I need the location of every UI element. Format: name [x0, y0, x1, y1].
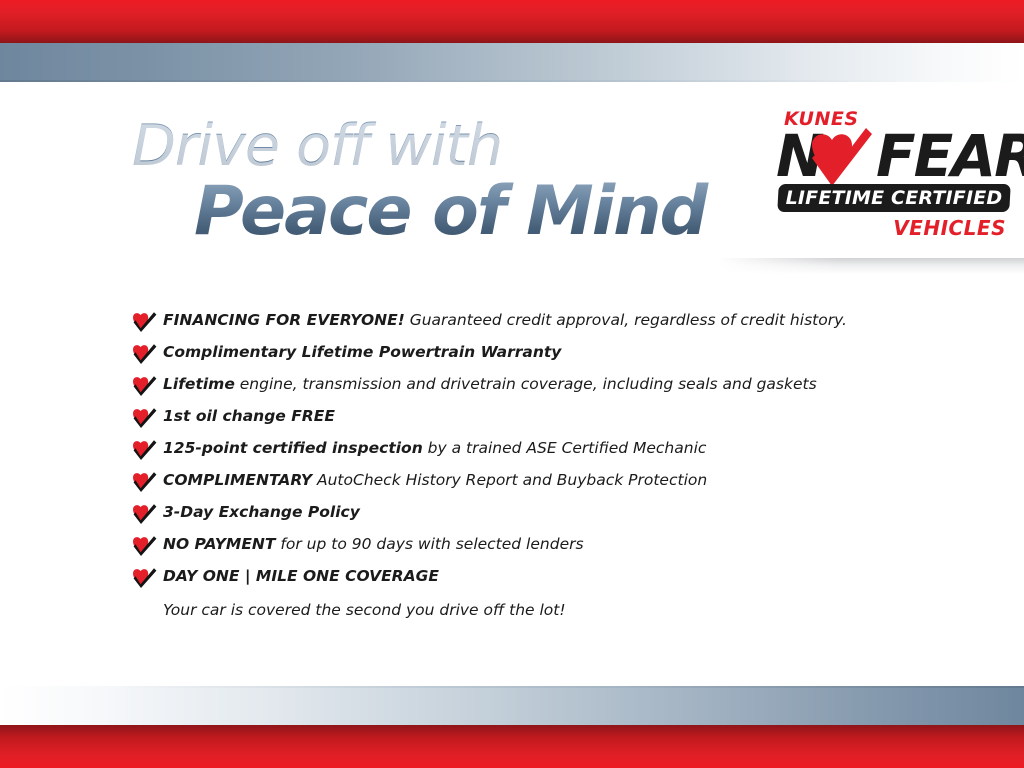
list-item: 125-point certified inspection by a trai…	[131, 438, 921, 470]
list-item-lead: 125-point certified inspection	[163, 439, 423, 457]
headline-block: Drive off with Peace of Mind	[132, 118, 732, 246]
heart-check-icon	[131, 567, 157, 589]
list-item-subtext: Your car is covered the second you drive…	[163, 600, 921, 620]
promo-page: Drive off with Peace of Mind KUNES N FEA…	[0, 0, 1024, 768]
list-item-lead: 1st oil change FREE	[163, 407, 335, 425]
bottom-red-band	[0, 725, 1024, 768]
list-item-rest: by a trained ASE Certified Mechanic	[423, 439, 707, 457]
heart-check-icon	[131, 375, 157, 397]
heart-check-icon	[131, 311, 157, 333]
logo-wordmark: N FEAR	[776, 126, 1012, 186]
header-divider	[718, 258, 1024, 274]
list-item-rest: for up to 90 days with selected lenders	[275, 535, 583, 553]
headline-line-1: Drive off with	[132, 118, 732, 175]
heart-check-icon	[131, 343, 157, 365]
list-item: FINANCING FOR EVERYONE! Guaranteed credi…	[131, 310, 921, 342]
list-item: Lifetime engine, transmission and drivet…	[131, 374, 921, 406]
list-item-text: NO PAYMENT for up to 90 days with select…	[163, 534, 584, 554]
headline-line-2: Peace of Mind	[194, 177, 732, 246]
list-item-text: FINANCING FOR EVERYONE! Guaranteed credi…	[163, 310, 847, 330]
list-item-rest: Guaranteed credit approval, regardless o…	[405, 311, 847, 329]
list-item-text: DAY ONE | MILE ONE COVERAGE	[163, 566, 439, 586]
heart-check-icon	[131, 471, 157, 493]
list-item-text: 3-Day Exchange Policy	[163, 502, 360, 522]
list-item-lead: 3-Day Exchange Policy	[163, 503, 360, 521]
list-item-text: COMPLIMENTARY AutoCheck History Report a…	[163, 470, 707, 490]
benefits-list: FINANCING FOR EVERYONE! Guaranteed credi…	[131, 310, 921, 620]
list-item-text: Lifetime engine, transmission and drivet…	[163, 374, 817, 394]
heart-check-icon	[131, 503, 157, 525]
list-item: DAY ONE | MILE ONE COVERAGE	[131, 566, 921, 602]
heart-check-icon	[131, 535, 157, 557]
kunes-no-fear-logo: KUNES N FEAR LIFETIME CERTIFIED VEHICLES	[776, 108, 1012, 244]
list-item-text: Complimentary Lifetime Powertrain Warran…	[163, 342, 561, 362]
list-item-lead: FINANCING FOR EVERYONE!	[163, 311, 405, 329]
list-item-text: 1st oil change FREE	[163, 406, 335, 426]
heart-check-icon	[806, 128, 872, 190]
list-item-rest: engine, transmission and drivetrain cove…	[235, 375, 817, 393]
list-item-lead: Lifetime	[163, 375, 235, 393]
list-item: 1st oil change FREE	[131, 406, 921, 438]
logo-banner-plate: LIFETIME CERTIFIED	[777, 184, 1010, 212]
top-gray-band	[0, 43, 1024, 82]
heart-check-icon	[131, 439, 157, 461]
heart-check-icon	[131, 407, 157, 429]
bottom-gray-band	[0, 686, 1024, 725]
logo-word-vehicles: VEHICLES	[893, 216, 1006, 240]
list-item-text: 125-point certified inspection by a trai…	[163, 438, 706, 458]
list-item: Complimentary Lifetime Powertrain Warran…	[131, 342, 921, 374]
list-item-lead: Complimentary Lifetime Powertrain Warran…	[163, 343, 561, 361]
list-item-lead: DAY ONE | MILE ONE COVERAGE	[163, 567, 439, 585]
list-item: NO PAYMENT for up to 90 days with select…	[131, 534, 921, 566]
list-item-rest: AutoCheck History Report and Buyback Pro…	[312, 471, 707, 489]
list-item: COMPLIMENTARY AutoCheck History Report a…	[131, 470, 921, 502]
logo-banner-text: LIFETIME CERTIFIED	[778, 184, 1010, 212]
logo-word-fear: FEAR	[876, 122, 1024, 190]
list-item-lead: NO PAYMENT	[163, 535, 275, 553]
list-item-lead: COMPLIMENTARY	[163, 471, 312, 489]
list-item: 3-Day Exchange Policy	[131, 502, 921, 534]
top-red-band	[0, 0, 1024, 43]
